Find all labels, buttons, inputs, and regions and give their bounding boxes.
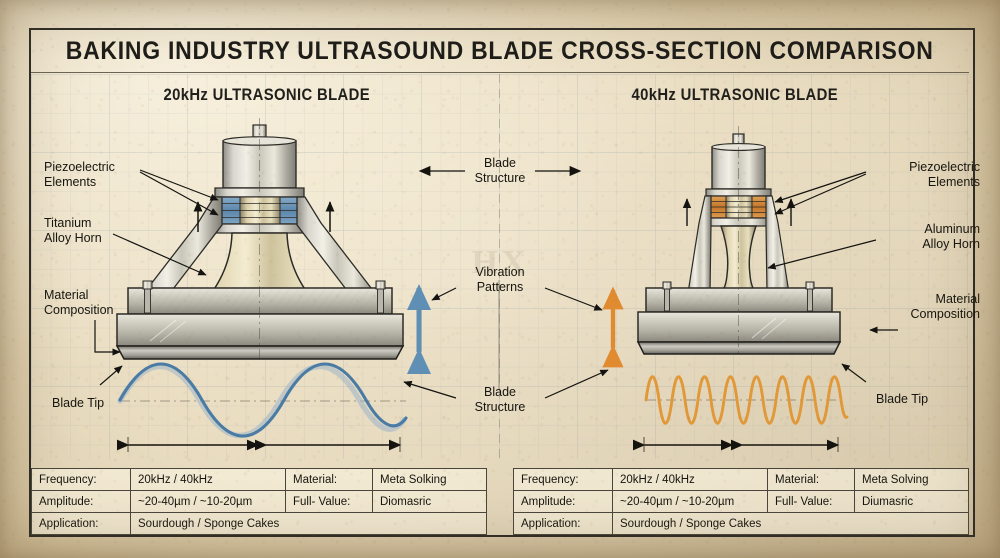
table-row: Amplitude: ~20-40µm / ~10-20µm Full- Val… (32, 491, 487, 513)
spec-value-2: Diumasric (855, 491, 969, 513)
spec-value: 20kHz / 40kHz (131, 469, 286, 491)
bolt-right-r (806, 282, 814, 311)
spec-key: Frequency: (32, 469, 131, 491)
label-horn-right: Aluminum Alloy Horn (868, 222, 980, 251)
spec-key-2: Material: (768, 469, 855, 491)
table-row: Application: Sourdough / Sponge Cakes (32, 513, 487, 535)
dimension-lines-left (128, 437, 400, 452)
table-row: Amplitude: ~20-40µm / ~10-20µm Full- Val… (514, 491, 969, 513)
vibration-waveform-right (646, 377, 847, 424)
spec-value: 20kHz / 40kHz (613, 469, 768, 491)
blade-assembly-right (638, 126, 840, 356)
spec-key: Amplitude: (514, 491, 613, 513)
spec-value-2: Meta Solking (373, 469, 487, 491)
vibration-waveform-left (120, 364, 406, 436)
label-blade-structure-top: Blade Structure (455, 156, 545, 185)
label-piezo-right: Piezoelectric Elements (868, 160, 980, 189)
spec-key-2: Full- Value: (286, 491, 373, 513)
spec-value: Sourdough / Sponge Cakes (613, 513, 969, 535)
label-horn-left: Titanium Alloy Horn (44, 216, 154, 245)
spec-key: Frequency: (514, 469, 613, 491)
blade-assembly-left (117, 118, 403, 360)
bolt-right (376, 281, 385, 313)
spec-table-left: Frequency: 20kHz / 40kHz Material: Meta … (31, 468, 487, 535)
dimension-lines-right (644, 437, 838, 452)
spec-key: Application: (32, 513, 131, 535)
label-blade-tip-right: Blade Tip (876, 392, 956, 407)
spec-value: ~20-40µm / ~10-20µm (613, 491, 768, 513)
spec-value: ~20-40µm / ~10-20µm (131, 491, 286, 513)
table-row: Frequency: 20kHz / 40kHz Material: Meta … (514, 469, 969, 491)
bolt-left-r (663, 282, 671, 311)
blueprint-sheet: BAKING INDUSTRY ULTRASOUND BLADE CROSS-S… (0, 0, 1000, 558)
label-blade-tip-left: Blade Tip (52, 396, 132, 411)
table-row: Frequency: 20kHz / 40kHz Material: Meta … (32, 469, 487, 491)
table-row: Application: Sourdough / Sponge Cakes (514, 513, 969, 535)
spec-key: Amplitude: (32, 491, 131, 513)
spec-table-right: Frequency: 20kHz / 40kHz Material: Meta … (513, 468, 969, 535)
label-vibration-patterns: Vibration Patterns (455, 265, 545, 294)
spec-value: Sourdough / Sponge Cakes (131, 513, 487, 535)
spec-value-2: Meta Solving (855, 469, 969, 491)
spec-key-2: Full- Value: (768, 491, 855, 513)
spec-value-2: Diomasric (373, 491, 487, 513)
label-piezo-left: Piezoelectric Elements (44, 160, 154, 189)
label-material-right: Material Composition (868, 292, 980, 321)
label-material-left: Material Composition (44, 288, 154, 317)
label-blade-structure-bottom: Blade Structure (455, 385, 545, 414)
spec-key: Application: (514, 513, 613, 535)
spec-key-2: Material: (286, 469, 373, 491)
